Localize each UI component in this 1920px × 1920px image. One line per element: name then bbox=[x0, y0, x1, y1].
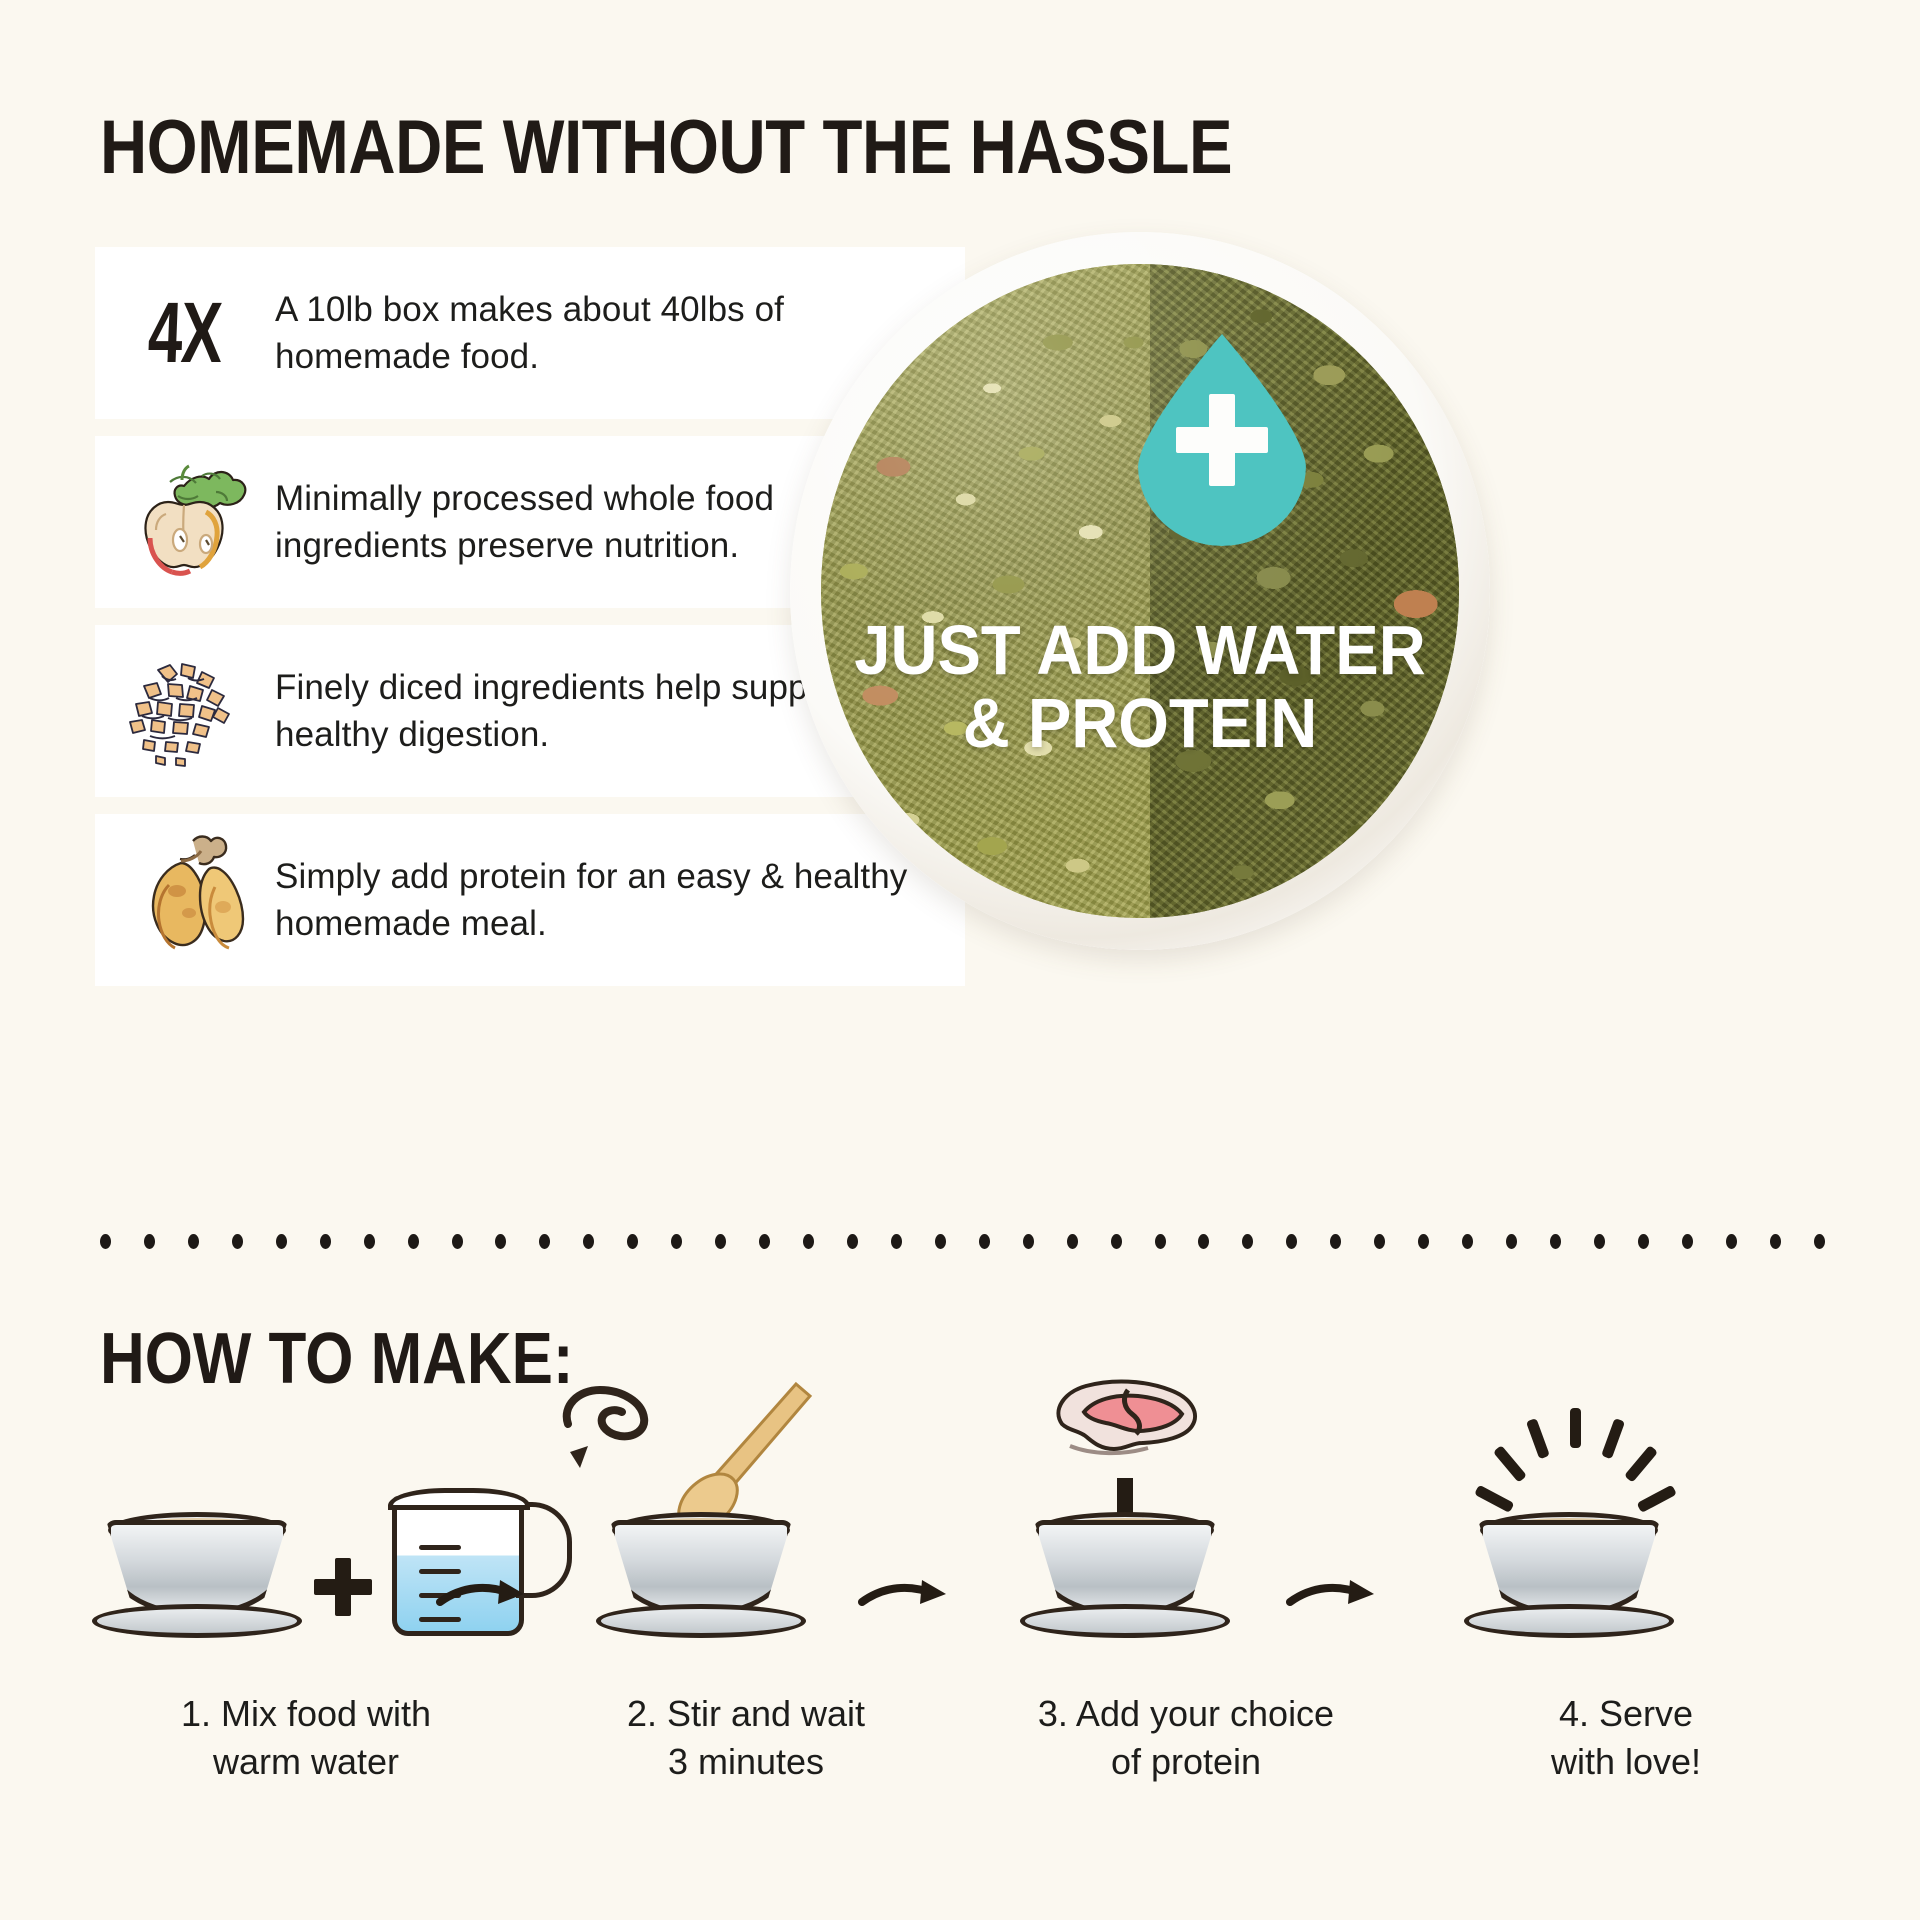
step-caption-line2: warm water bbox=[86, 1738, 526, 1786]
step-caption: 2. Stir and wait 3 minutes bbox=[526, 1690, 966, 1785]
plus-icon bbox=[314, 1558, 372, 1616]
bowl-caption-line2: & PROTEIN bbox=[815, 687, 1466, 760]
how-to-steps: 1. Mix food with warm water bbox=[86, 1390, 1846, 1830]
steak-above-bowl-icon bbox=[966, 1390, 1406, 1690]
multiplier-label: 4X bbox=[147, 284, 224, 383]
step-caption-line1: 1. Mix food with bbox=[86, 1690, 526, 1738]
step-3: 3. Add your choice of protein bbox=[966, 1390, 1406, 1830]
steak-icon bbox=[1028, 1368, 1208, 1478]
apple-spinach-icon bbox=[95, 442, 275, 602]
finished-bowl-with-shine-icon bbox=[1406, 1390, 1846, 1690]
page-title: HOMEMADE WITHOUT THE HASSLE bbox=[100, 104, 1232, 191]
dog-bowl-icon bbox=[1020, 1506, 1230, 1638]
step-caption-line2: with love! bbox=[1406, 1738, 1846, 1786]
step-caption-line2: 3 minutes bbox=[526, 1738, 966, 1786]
bowl-caption-line1: JUST ADD WATER bbox=[815, 614, 1466, 687]
step-1: 1. Mix food with warm water bbox=[86, 1390, 526, 1830]
bowl-plus-measuring-cup-icon bbox=[86, 1390, 526, 1690]
step-caption-line1: 3. Add your choice bbox=[966, 1690, 1406, 1738]
dry-food-half bbox=[821, 264, 1150, 919]
arrow-right-icon bbox=[436, 1572, 528, 1616]
product-bowl-image: JUST ADD WATER & PROTEIN bbox=[790, 232, 1490, 950]
step-caption-line1: 2. Stir and wait bbox=[526, 1690, 966, 1738]
bowl-with-spoon-and-swirl-icon bbox=[526, 1390, 966, 1690]
dog-bowl-icon bbox=[1464, 1506, 1674, 1638]
step-4: 4. Serve with love! bbox=[1406, 1390, 1846, 1830]
dog-bowl-icon bbox=[596, 1506, 806, 1638]
stir-swirl-icon bbox=[552, 1378, 692, 1488]
step-caption: 1. Mix food with warm water bbox=[86, 1690, 526, 1785]
plus-icon bbox=[1138, 334, 1306, 546]
dog-bowl-icon bbox=[92, 1506, 302, 1638]
infographic-page: HOMEMADE WITHOUT THE HASSLE 4X A 10lb bo… bbox=[0, 0, 1920, 1920]
step-2: 2. Stir and wait 3 minutes bbox=[526, 1390, 966, 1830]
dotted-divider bbox=[100, 1230, 1825, 1252]
diced-ingredients-icon bbox=[95, 631, 275, 791]
chicken-drumsticks-icon bbox=[95, 820, 275, 980]
step-caption-line1: 4. Serve bbox=[1406, 1690, 1846, 1738]
4x-multiplier-badge-icon: 4X bbox=[95, 253, 275, 413]
how-to-make-title: HOW TO MAKE: bbox=[100, 1318, 574, 1400]
step-caption: 3. Add your choice of protein bbox=[966, 1690, 1406, 1785]
step-caption-line2: of protein bbox=[966, 1738, 1406, 1786]
arrow-right-icon bbox=[858, 1572, 950, 1616]
bowl-caption: JUST ADD WATER & PROTEIN bbox=[815, 614, 1466, 760]
step-caption: 4. Serve with love! bbox=[1406, 1690, 1846, 1785]
arrow-right-icon bbox=[1286, 1572, 1378, 1616]
